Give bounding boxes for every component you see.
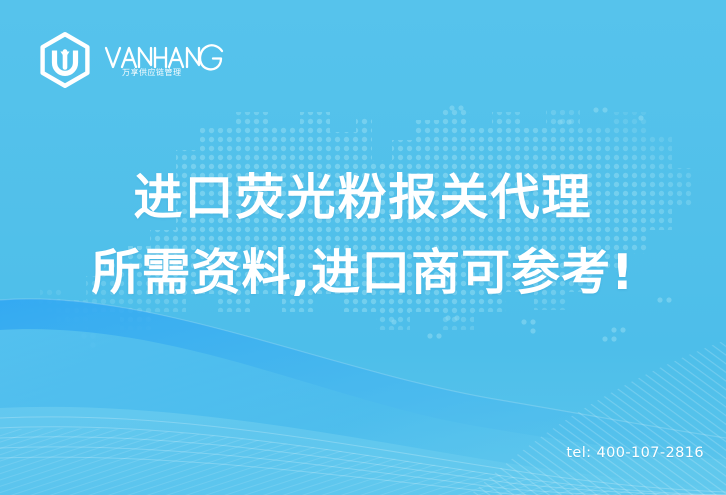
headline-block: 进口荧光粉报关代理 所需资料,进口商可参考! [0,160,726,310]
logo-text-block: 万享供应链管理 [104,31,224,89]
brand-logo[interactable]: 万享供应链管理 [36,31,224,89]
promo-banner: 万享供应链管理 进口荧光粉报关代理 所需资料,进口商可参考! tel: 400-… [0,0,726,495]
logo-subtitle: 万享供应链管理 [122,67,182,78]
headline-line-1: 进口荧光粉报关代理 [0,160,726,235]
headline-line-2: 所需资料,进口商可参考! [0,235,726,310]
hexagon-u-mark-icon [36,31,94,89]
contact-phone[interactable]: tel: 400-107-2816 [566,445,704,461]
